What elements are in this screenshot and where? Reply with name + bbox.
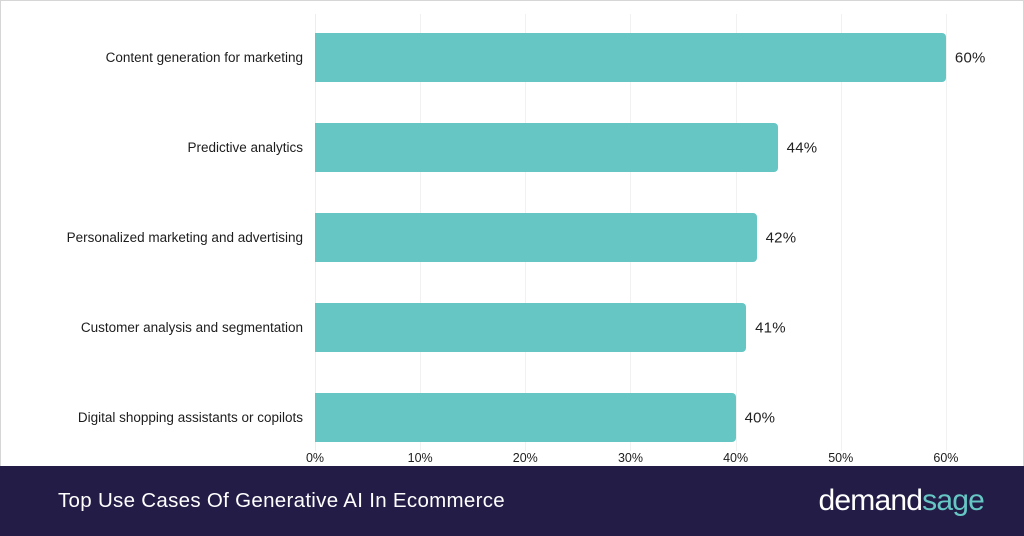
x-tick-label: 40% <box>723 451 748 465</box>
x-tick-label: 0% <box>306 451 324 465</box>
bar[interactable] <box>315 303 746 352</box>
bar-value-label: 60% <box>955 49 986 66</box>
bar-row[interactable]: 40% <box>315 393 1009 442</box>
category-label: Content generation for marketing <box>0 33 303 82</box>
category-label: Customer analysis and segmentation <box>0 303 303 352</box>
bar[interactable] <box>315 393 736 442</box>
bar[interactable] <box>315 213 757 262</box>
plot-area: 60%44%42%41%40% <box>315 14 1009 451</box>
bar-row[interactable]: 60% <box>315 33 1009 82</box>
demandsage-logo: demandsage <box>819 484 984 518</box>
bar-value-label: 44% <box>787 139 818 156</box>
bar-row[interactable]: 42% <box>315 213 1009 262</box>
x-tick-label: 10% <box>408 451 433 465</box>
page-title: Top Use Cases Of Generative AI In Ecomme… <box>58 489 505 513</box>
chart-screenshot: Content generation for marketingPredicti… <box>0 0 1024 536</box>
x-tick-label: 20% <box>513 451 538 465</box>
bar-value-label: 41% <box>755 319 786 336</box>
x-tick-label: 60% <box>933 451 958 465</box>
category-label: Digital shopping assistants or copilots <box>0 393 303 442</box>
brand-name-primary: demand <box>819 484 923 517</box>
bar[interactable] <box>315 33 946 82</box>
bar-value-label: 42% <box>766 229 797 246</box>
bar-row[interactable]: 44% <box>315 123 1009 172</box>
category-label: Predictive analytics <box>0 123 303 172</box>
category-axis-labels: Content generation for marketingPredicti… <box>0 14 303 451</box>
x-axis-tick-labels: 0%10%20%30%40%50%60% <box>315 451 1009 467</box>
brand-name-accent: sage <box>922 484 984 517</box>
bar-row[interactable]: 41% <box>315 303 1009 352</box>
footer-banner: Top Use Cases Of Generative AI In Ecomme… <box>0 466 1024 536</box>
category-label: Personalized marketing and advertising <box>0 213 303 262</box>
bar-value-label: 40% <box>745 409 776 426</box>
bar[interactable] <box>315 123 778 172</box>
bars-container: 60%44%42%41%40% <box>315 14 1009 451</box>
x-tick-label: 50% <box>828 451 853 465</box>
x-tick-label: 30% <box>618 451 643 465</box>
